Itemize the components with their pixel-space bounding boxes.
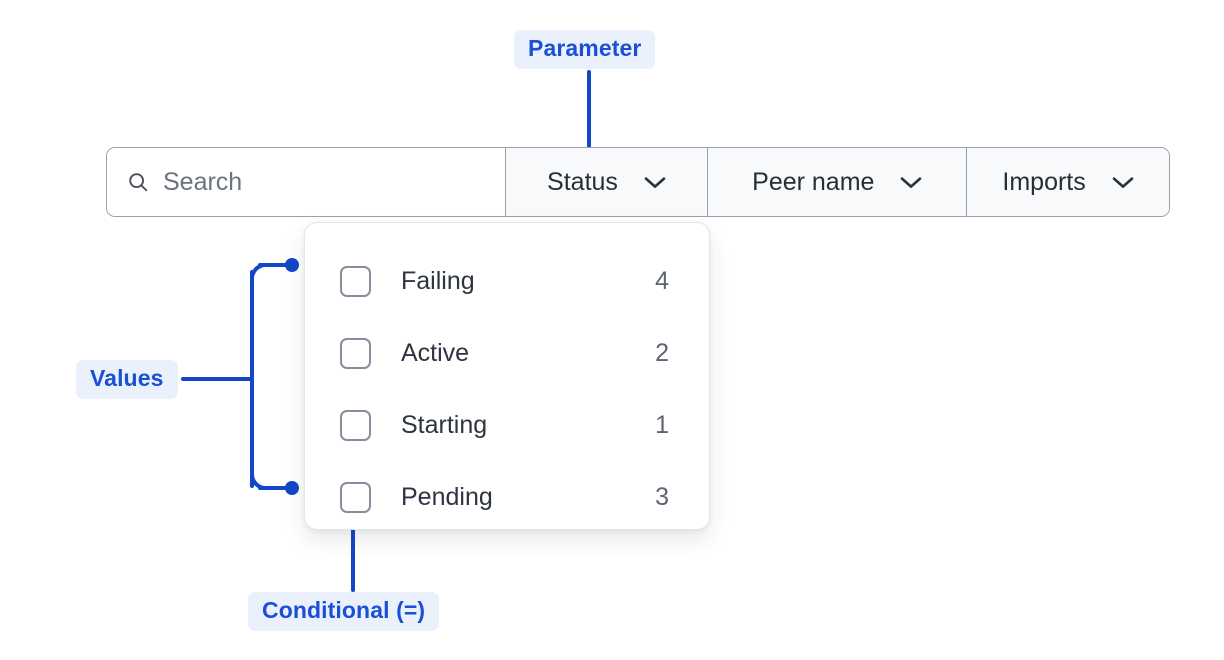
checkbox-active[interactable] (340, 338, 371, 369)
filter-segment-imports[interactable]: Imports (967, 148, 1169, 216)
checkbox-pending[interactable] (340, 482, 371, 513)
values-dot-bottom (285, 481, 299, 495)
search-cell[interactable] (107, 148, 506, 216)
callout-conditional: Conditional (=) (248, 592, 439, 631)
filter-segment-status[interactable]: Status (506, 148, 709, 216)
chevron-down-icon (644, 176, 666, 189)
filter-segment-peer-name-label: Peer name (752, 168, 874, 197)
values-corner-bottom (252, 475, 264, 488)
dropdown-option-pending-label: Pending (401, 483, 655, 512)
values-corner-top (252, 265, 264, 279)
chevron-down-icon (1112, 176, 1134, 189)
dropdown-option-starting[interactable]: Starting 1 (305, 389, 709, 461)
dropdown-option-failing[interactable]: Failing 4 (305, 245, 709, 317)
filter-segment-imports-label: Imports (1002, 168, 1085, 197)
dropdown-option-active-label: Active (401, 339, 655, 368)
checkbox-starting[interactable] (340, 410, 371, 441)
dropdown-option-failing-label: Failing (401, 267, 655, 296)
chevron-down-icon (900, 176, 922, 189)
checkbox-failing[interactable] (340, 266, 371, 297)
callout-values: Values (76, 360, 178, 399)
dropdown-option-starting-count: 1 (655, 411, 669, 440)
dropdown-option-failing-count: 4 (655, 267, 669, 296)
search-icon (127, 171, 149, 193)
annotated-filter-diagram: Parameter Values Conditional (=) Status … (0, 0, 1224, 660)
filter-segment-status-label: Status (547, 168, 618, 197)
search-input[interactable] (163, 168, 493, 197)
callout-parameter: Parameter (514, 30, 655, 69)
filter-bar: Status Peer name Imports (106, 147, 1170, 217)
dropdown-option-active[interactable]: Active 2 (305, 317, 709, 389)
status-dropdown-panel: Failing 4 Active 2 Starting 1 Pending 3 (304, 222, 710, 530)
filter-segment-peer-name[interactable]: Peer name (708, 148, 967, 216)
dropdown-option-pending-count: 3 (655, 483, 669, 512)
values-dot-top (285, 258, 299, 272)
dropdown-option-starting-label: Starting (401, 411, 655, 440)
dropdown-option-pending[interactable]: Pending 3 (305, 461, 709, 533)
dropdown-option-active-count: 2 (655, 339, 669, 368)
